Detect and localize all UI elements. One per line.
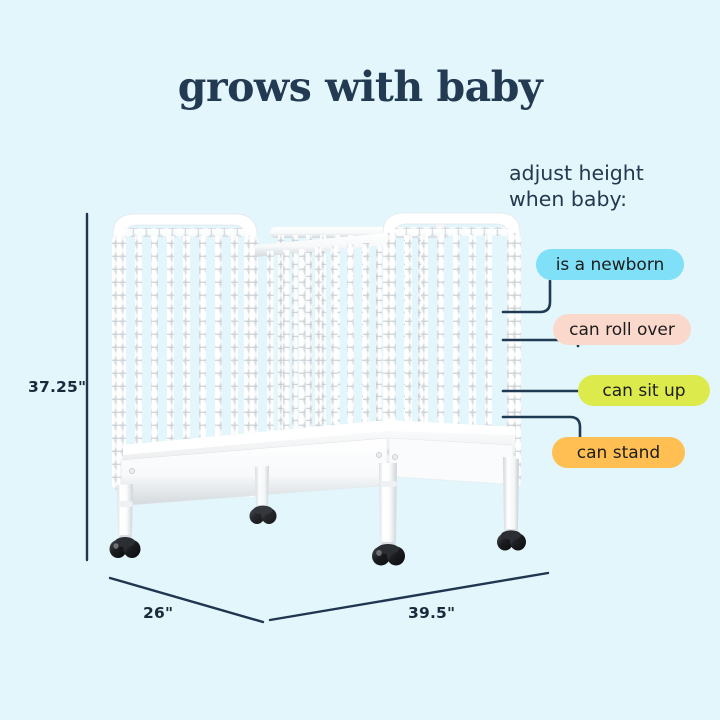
dimension-lines — [0, 0, 720, 720]
infographic-canvas: grows with baby — [0, 0, 720, 720]
dimension-line-depth — [110, 578, 263, 622]
dimension-label-width: 39.5" — [408, 604, 455, 622]
dimension-label-depth: 26" — [143, 604, 173, 622]
dimension-label-height: 37.25" — [28, 378, 86, 396]
